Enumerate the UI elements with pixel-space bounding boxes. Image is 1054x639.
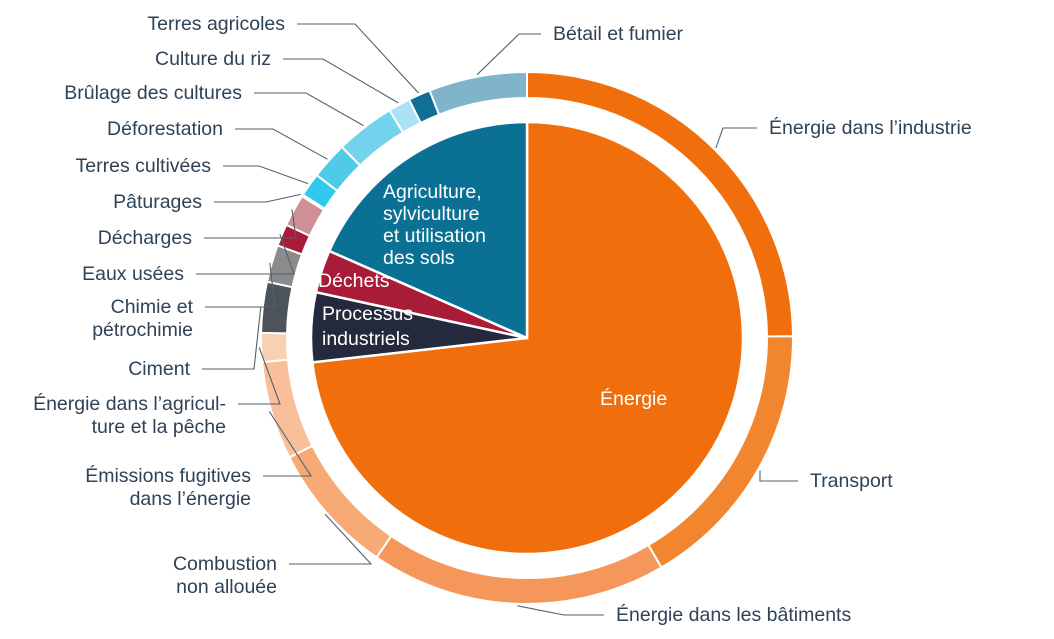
leader-line [223, 166, 308, 184]
pie-chart-figure: ÉnergieProcessus industrielsDéchetsAgric… [0, 0, 1054, 639]
callout-label: ture et la pêche [92, 416, 226, 438]
leader-line [254, 93, 364, 126]
callout-label: Déforestation [107, 118, 223, 140]
callout-label: Terres cultivées [76, 155, 212, 177]
inner-sector-label: Agriculture, [383, 181, 482, 203]
leader-line [518, 606, 605, 615]
leader-line [235, 129, 327, 159]
inner-sector-label: Déchets [318, 270, 390, 292]
leader-line [214, 194, 301, 202]
callout-label: Ciment [128, 358, 190, 380]
callout-label: Brûlage des cultures [64, 82, 242, 104]
leader-line [202, 307, 261, 369]
callout-label: Eaux usées [82, 263, 184, 285]
callout-label: Terres agricoles [147, 13, 285, 35]
callout-label: Énergie dans les bâtiments [616, 603, 851, 626]
leader-line [477, 34, 541, 75]
callout-label: Énergie dans l’agricul- [33, 392, 226, 415]
callout-label: Chimie et [111, 296, 194, 318]
leader-line [760, 471, 798, 482]
callout-label: pétrochimie [92, 319, 193, 341]
leader-line [283, 59, 398, 103]
callout-label: non allouée [176, 576, 277, 598]
inner-sector-label: sylviculture [383, 203, 479, 225]
inner-sector-label: Énergie [600, 387, 667, 410]
callout-label: dans l’énergie [130, 488, 251, 510]
callout-label: Culture du riz [155, 48, 271, 70]
callout-label: Énergie dans l’industrie [769, 116, 972, 139]
callout-label: Pâturages [113, 191, 202, 213]
emissions-donut-chart: ÉnergieProcessus industrielsDéchetsAgric… [0, 0, 1054, 639]
leader-line [716, 128, 757, 148]
inner-sector-label: industriels [322, 328, 410, 350]
callout-label: Combustion [173, 553, 277, 575]
callout-label: Décharges [98, 227, 193, 249]
callout-label: Bétail et fumier [553, 23, 684, 45]
ring-sector[interactable]: Énergie dans l’agriculture et la pêche [261, 333, 288, 362]
inner-sector-label: et utilisation [383, 225, 486, 247]
callout-label: Émissions fugitives [85, 464, 251, 487]
callout-label: Transport [810, 470, 893, 492]
ring-sector[interactable]: Bétail et fumier [430, 72, 527, 115]
inner-sector-label: Processus [322, 303, 413, 325]
inner-sector-label: des sols [383, 247, 455, 269]
